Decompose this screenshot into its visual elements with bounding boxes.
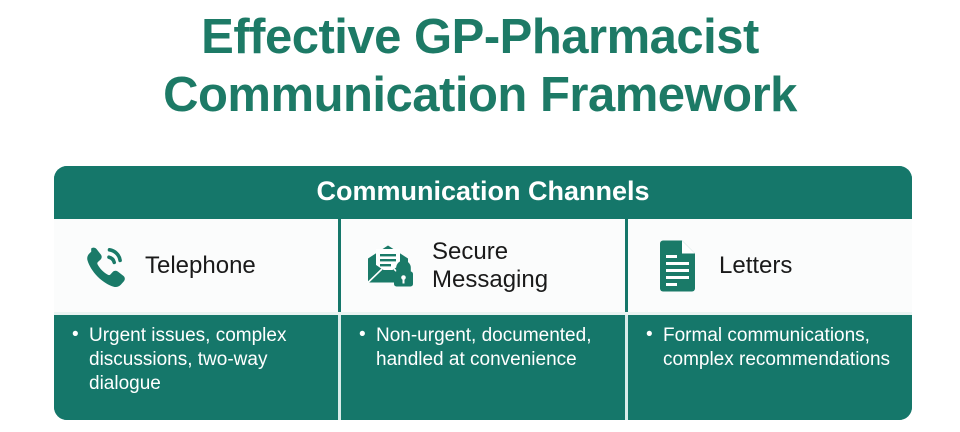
bullet-cell-letters: Formal communications, complex recommend…: [625, 315, 912, 420]
page-title-line-1: Effective GP-Pharmacist: [0, 8, 960, 66]
channel-cell-telephone: Telephone: [54, 219, 338, 312]
bullet-text-telephone: Urgent issues, complex discussions, two-…: [72, 324, 324, 396]
channel-cell-letters: Letters: [625, 219, 912, 312]
communication-channels-card: Communication Channels Telephone: [54, 166, 912, 420]
secure-envelope-lock-icon: [363, 237, 419, 295]
channel-label-secure-messaging: Secure Messaging: [432, 238, 625, 294]
channel-bullet-row: Urgent issues, complex discussions, two-…: [54, 312, 912, 420]
bullet-text-secure-messaging: Non-urgent, documented, handled at conve…: [359, 324, 611, 372]
phone-icon: [76, 237, 132, 295]
bullet-cell-telephone: Urgent issues, complex discussions, two-…: [54, 315, 338, 420]
channel-label-letters: Letters: [719, 252, 792, 280]
channel-cell-secure-messaging: Secure Messaging: [338, 219, 625, 312]
channel-icon-row: Telephone: [54, 217, 912, 312]
page-title-line-2: Communication Framework: [0, 66, 960, 124]
document-icon: [650, 237, 706, 295]
page-title: Effective GP-Pharmacist Communication Fr…: [0, 8, 960, 124]
channel-label-telephone: Telephone: [145, 252, 256, 280]
bullet-text-letters: Formal communications, complex recommend…: [646, 324, 898, 372]
card-header: Communication Channels: [54, 166, 912, 217]
infographic-page: Effective GP-Pharmacist Communication Fr…: [0, 0, 960, 432]
card-header-title: Communication Channels: [316, 176, 649, 207]
bullet-cell-secure-messaging: Non-urgent, documented, handled at conve…: [338, 315, 625, 420]
